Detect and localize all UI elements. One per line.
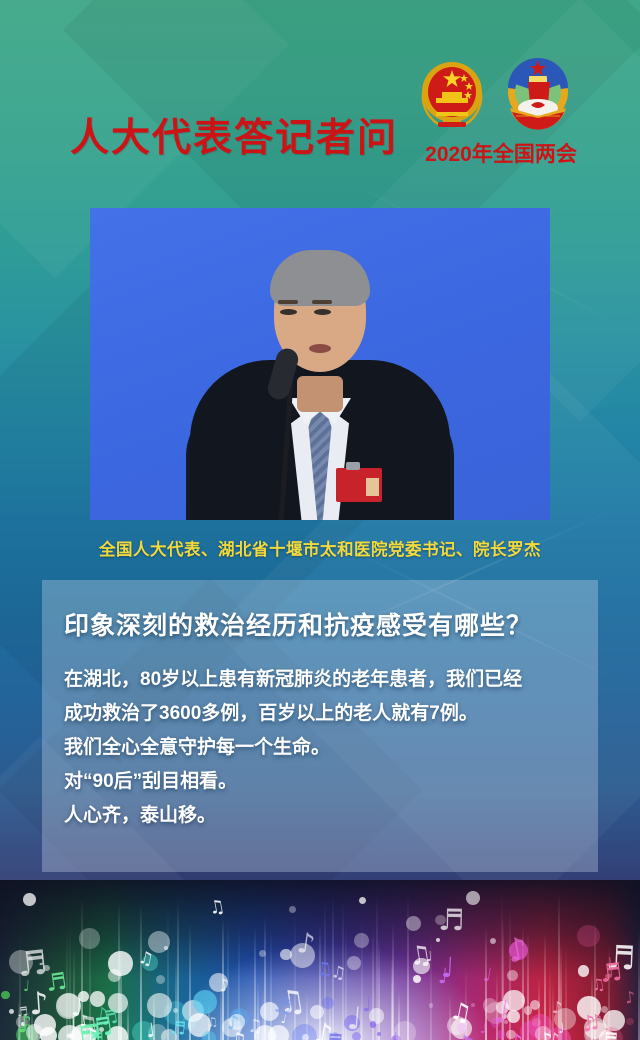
portrait-neck	[297, 376, 343, 412]
bokeh-dot	[23, 893, 36, 906]
music-note-icon: ♫	[207, 1015, 220, 1029]
light-beam	[392, 923, 394, 1040]
bokeh-dot	[173, 1008, 178, 1013]
music-note-icon: ♬	[321, 1031, 343, 1040]
portrait-eye-right	[314, 309, 331, 315]
music-note-icon: ♬	[599, 960, 624, 987]
portrait-eyebrow-left	[278, 300, 298, 304]
music-note-icon: ♩	[437, 965, 448, 987]
poster-header: 人大代表答记者问	[0, 0, 640, 200]
bokeh-dot	[490, 938, 496, 944]
national-emblem-prc-icon	[416, 58, 488, 134]
music-note-icon: ♬	[88, 1015, 114, 1040]
bokeh-dot	[156, 975, 165, 984]
portrait-mouth	[309, 344, 331, 353]
music-note-icon: ♩	[479, 1023, 486, 1037]
speaker-photo	[90, 208, 550, 520]
music-note-icon: ♫	[246, 1018, 263, 1037]
question-headline: 印象深刻的救治经历和抗疫感受有哪些？	[64, 606, 532, 642]
answer-line: 成功救治了3600多例，百岁以上的老人就有7例。	[64, 697, 584, 731]
music-note-icon: ♬	[16, 945, 50, 982]
music-note-icon: ♬	[438, 906, 465, 936]
bokeh-dot	[354, 933, 369, 948]
quote-panel: 印象深刻的救治经历和抗疫感受有哪些？ 在湖北，80岁以上患有新冠肺炎的老年患者，…	[42, 580, 598, 872]
bokeh-dot	[578, 965, 590, 977]
bokeh-dot	[322, 997, 334, 1009]
music-note-icon: ♬	[598, 1030, 618, 1040]
music-note-icon: ♩	[346, 1004, 363, 1036]
cppcc-emblem-icon	[502, 58, 574, 134]
music-note-icon: ♪	[580, 1012, 597, 1036]
music-note-icon: ♩	[64, 1013, 79, 1040]
music-note-icon: ♫	[330, 963, 347, 982]
light-beam	[378, 939, 380, 1040]
portrait-eyebrow-right	[312, 300, 332, 304]
bokeh-dot	[347, 956, 361, 970]
delegate-badge-photo	[366, 478, 379, 496]
bokeh-dot	[268, 1025, 289, 1040]
bokeh-dot	[193, 990, 217, 1014]
delegate-badge-clip	[346, 462, 360, 470]
meeting-year-label: 2020年全国两会	[416, 138, 586, 168]
bokeh-dot	[302, 1034, 309, 1040]
bokeh-dot	[1, 991, 10, 1000]
bokeh-dot	[40, 1027, 57, 1040]
music-note-icon: ♪	[624, 990, 636, 1007]
bokeh-dot	[359, 897, 366, 904]
light-beam	[270, 930, 272, 1040]
music-note-icon: ♬	[272, 995, 293, 1018]
answer-line: 人心齐，泰山移。	[64, 799, 584, 833]
music-note-icon: ♬	[169, 1020, 186, 1039]
answer-line: 对“90后”刮目相看。	[64, 765, 584, 799]
bokeh-dot	[429, 1003, 434, 1008]
poster-root: 人大代表答记者问	[0, 0, 640, 1040]
music-note-icon: ♪	[28, 989, 50, 1021]
bokeh-dot	[524, 1006, 533, 1015]
music-note-icon: ♩	[390, 1032, 398, 1040]
answer-line: 在湖北，80岁以上患有新冠肺炎的老年患者，我们已经	[64, 663, 584, 697]
answer-body: 在湖北，80岁以上患有新冠肺炎的老年患者，我们已经 成功救治了3600多例，百岁…	[64, 663, 584, 833]
light-beam	[264, 917, 266, 1040]
answer-line: 我们全心全意守护每一个生命。	[64, 731, 584, 765]
photo-caption: 全国人大代表、湖北省十堰市太和医院党委书记、院长罗杰	[0, 536, 640, 560]
music-note-icon: ♩	[361, 993, 371, 1014]
music-note-icon: ♪	[227, 1014, 240, 1034]
music-notes-footer: ♫♪♬♬♩♬♩♩♫♫♪♩♪♬♪♬♪♪♩♩♩♩♫♬♫♩♫♪♩♬♪♫♬♫♫♬♩♩♪♫…	[0, 880, 640, 1040]
music-note-icon: ♫	[208, 898, 227, 919]
bokeh-dot	[497, 1030, 506, 1039]
music-note-icon: ♪	[295, 929, 317, 959]
emblem-group	[416, 58, 580, 138]
bokeh-dot	[79, 928, 99, 948]
music-note-icon: ♫	[407, 942, 434, 971]
bokeh-dot	[147, 993, 172, 1018]
bokeh-dot	[507, 970, 518, 981]
music-note-icon: ♫	[136, 949, 154, 969]
page-title: 人大代表答记者问	[70, 119, 398, 158]
light-beam	[140, 903, 142, 1040]
bokeh-dot	[577, 925, 600, 948]
music-note-icon: ♪	[551, 1000, 562, 1017]
portrait-eye-left	[280, 309, 297, 315]
